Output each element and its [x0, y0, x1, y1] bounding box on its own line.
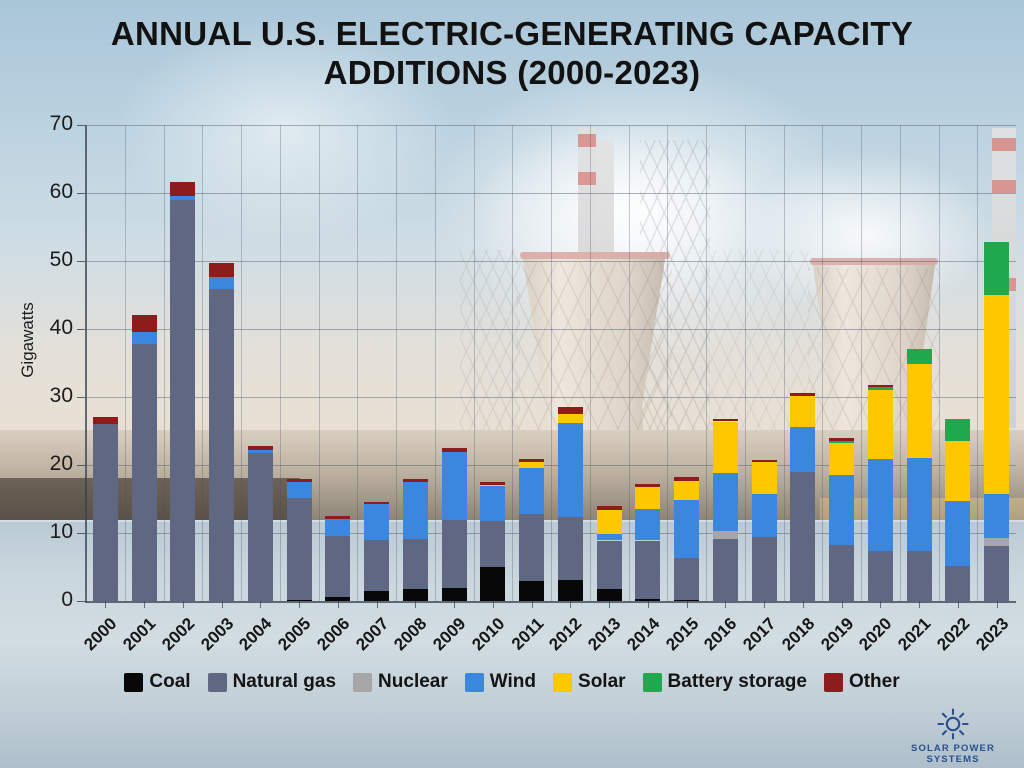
x-axis-tick [880, 601, 881, 608]
x-axis-tick [415, 601, 416, 608]
x-axis-tick [183, 601, 184, 608]
y-axis-tick-label: 70 [18, 112, 73, 136]
y-axis-tick-label: 10 [18, 520, 73, 544]
legend-item-coal[interactable]: Coal [124, 671, 190, 693]
legend-label: Other [849, 671, 900, 693]
x-axis-tick [338, 601, 339, 608]
x-axis-tick [997, 601, 998, 608]
x-axis-tick [687, 601, 688, 608]
x-axis-tick [260, 601, 261, 608]
x-axis-tick [454, 601, 455, 608]
y-axis-tick [77, 601, 85, 602]
x-axis-tick [725, 601, 726, 608]
x-axis-tick [958, 601, 959, 608]
x-axis-tick [105, 601, 106, 608]
x-axis-tick [570, 601, 571, 608]
x-axis-tick [377, 601, 378, 608]
y-axis-tick-label: 40 [18, 316, 73, 340]
y-axis-tick-label: 50 [18, 248, 73, 272]
y-axis-tick [77, 125, 85, 126]
x-axis-tick [144, 601, 145, 608]
legend-item-nuclear[interactable]: Nuclear [353, 671, 448, 693]
legend-label: Coal [149, 671, 190, 693]
legend-item-solar[interactable]: Solar [553, 671, 626, 693]
legend-label: Battery storage [668, 671, 807, 693]
x-axis-tick [299, 601, 300, 608]
y-axis-tick [77, 533, 85, 534]
y-axis-tick-label: 20 [18, 452, 73, 476]
y-axis-tick [77, 261, 85, 262]
legend-item-battery-storage[interactable]: Battery storage [643, 671, 807, 693]
sun-icon [936, 707, 970, 741]
x-axis-tick [609, 601, 610, 608]
x-axis-tick [803, 601, 804, 608]
x-axis-tick [532, 601, 533, 608]
legend-label: Wind [490, 671, 536, 693]
y-axis-tick [77, 193, 85, 194]
legend-item-other[interactable]: Other [824, 671, 900, 693]
brand-logo: SOLAR POWER SYSTEMS [888, 707, 1018, 765]
legend-swatch-wind [465, 673, 484, 692]
y-axis-tick-label: 60 [18, 180, 73, 204]
legend-swatch-battery-storage [643, 673, 662, 692]
chart-legend: CoalNatural gasNuclearWindSolarBattery s… [0, 671, 1024, 693]
x-axis-tick [919, 601, 920, 608]
legend-item-wind[interactable]: Wind [465, 671, 536, 693]
x-axis-tick [842, 601, 843, 608]
y-axis-tick [77, 397, 85, 398]
x-axis-tick [648, 601, 649, 608]
legend-swatch-solar [553, 673, 572, 692]
legend-label: Nuclear [378, 671, 448, 693]
y-axis-tick [77, 465, 85, 466]
legend-swatch-other [824, 673, 843, 692]
legend-label: Natural gas [233, 671, 336, 693]
legend-swatch-natural-gas [208, 673, 227, 692]
legend-swatch-nuclear [353, 673, 372, 692]
x-axis-tick [493, 601, 494, 608]
stacked-bar-chart: Gigawatts 010203040506070 20002001200220… [0, 0, 1024, 768]
x-axis-tick [222, 601, 223, 608]
legend-label: Solar [578, 671, 626, 693]
y-axis-tick-label: 0 [18, 588, 73, 612]
x-axis-tick [764, 601, 765, 608]
brand-name: SOLAR POWER SYSTEMS [888, 743, 1018, 765]
legend-swatch-coal [124, 673, 143, 692]
y-axis-tick [77, 329, 85, 330]
y-axis-tick-label: 30 [18, 384, 73, 408]
legend-item-natural-gas[interactable]: Natural gas [208, 671, 336, 693]
